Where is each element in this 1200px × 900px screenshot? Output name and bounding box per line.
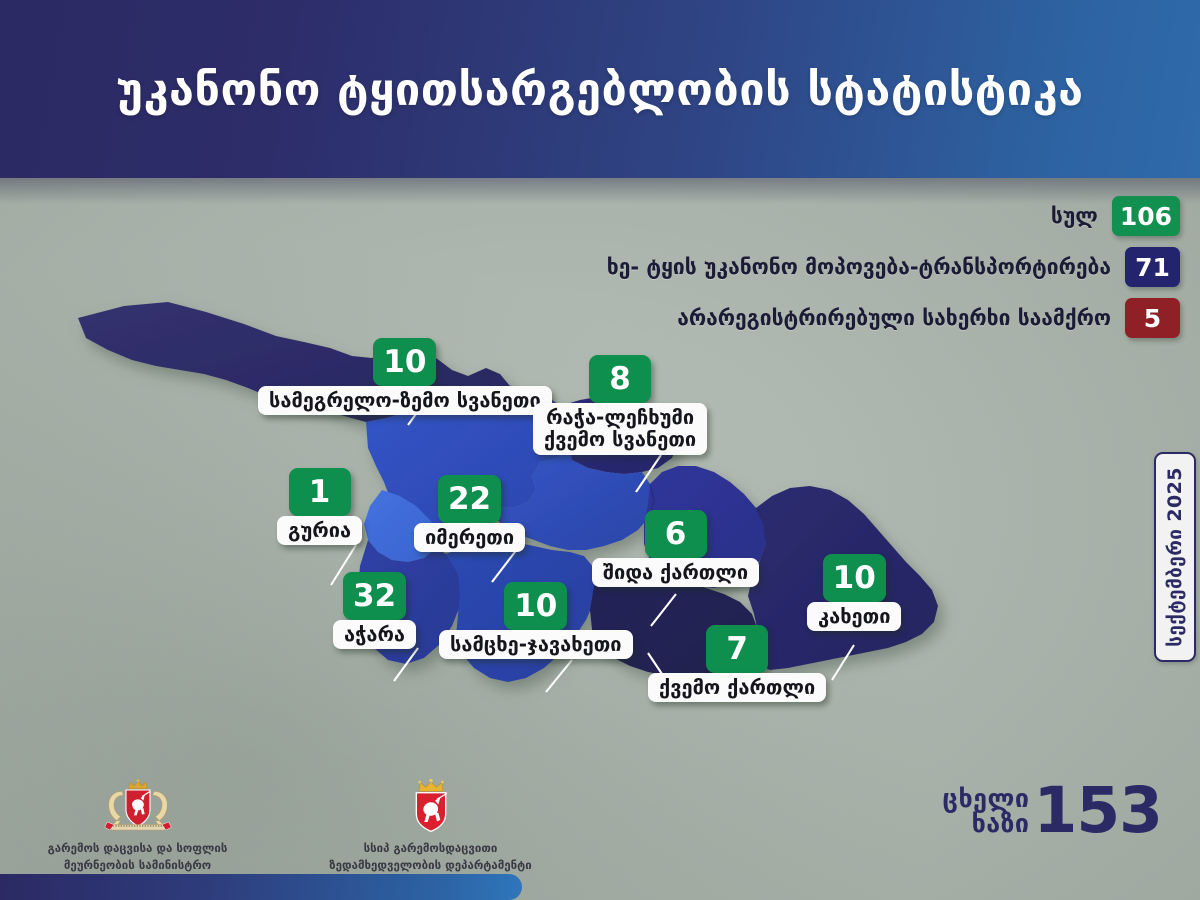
callout-label-shidakartli: შიდა ქართლი xyxy=(592,558,759,587)
callout-label-samegrelo: სამეგრელო-ზემო სვანეთი xyxy=(258,386,552,415)
callout-value-racha: 8 xyxy=(589,355,651,403)
leader-shidakartli xyxy=(651,594,676,626)
page-title: უკანონო ტყითსარგებლობის სტატისტიკა xyxy=(116,63,1083,116)
ministry-logo-block: გარემოს დაცვისა და სოფლის მეურნეობის სამ… xyxy=(30,778,245,873)
callout-value-kvemokartli: 7 xyxy=(706,625,768,673)
legend-row-total: სულ 106 xyxy=(1051,196,1180,236)
callout-label-kakheti: კახეთი xyxy=(807,602,901,631)
callout-kvemokartli[interactable]: 7 ქვემო ქართლი xyxy=(648,625,826,702)
callout-samegrelo[interactable]: 10 სამეგრელო-ზემო სვანეთი xyxy=(258,338,552,415)
leader-racha xyxy=(636,455,661,492)
hotline-badge: ცხელი ხაზი 153 xyxy=(942,784,1162,838)
callout-guria[interactable]: 1 გურია xyxy=(277,468,362,545)
leader-kakheti xyxy=(832,645,854,680)
hotline-number: 153 xyxy=(1033,784,1162,838)
callout-value-adjara: 32 xyxy=(343,572,406,620)
legend-row-unregistered: არარეგისტრირებული სახერხი საამქრო 5 xyxy=(677,298,1180,338)
callout-label-imereti: იმერეთი xyxy=(414,523,525,552)
legend-label-transport: ხე- ტყის უკანონო მოპოვება-ტრანსპორტირება xyxy=(607,255,1111,279)
ministry-emblem-icon xyxy=(98,778,178,834)
department-emblem-icon xyxy=(391,778,471,834)
bottom-accent-bar xyxy=(0,874,522,900)
leader-adjara xyxy=(394,648,418,681)
hotline-line1: ცხელი xyxy=(942,786,1029,811)
callout-adjara[interactable]: 32 აჭარა xyxy=(333,572,416,649)
footer-logos: გარემოს დაცვისა და სოფლის მეურნეობის სამ… xyxy=(30,778,538,873)
callout-label-racha: რაჭა-ლეჩხუმი ქვემო სვანეთი xyxy=(533,403,707,455)
date-tab: სექტემბერი 2025 xyxy=(1154,452,1196,662)
callout-label-guria: გურია xyxy=(277,516,362,545)
legend-badge-transport: 71 xyxy=(1125,247,1180,287)
header-banner: უკანონო ტყითსარგებლობის სტატისტიკა xyxy=(0,0,1200,178)
callout-imereti[interactable]: 22 იმერეთი xyxy=(414,475,525,552)
callout-kakheti[interactable]: 10 კახეთი xyxy=(807,554,901,631)
legend: სულ 106 ხე- ტყის უკანონო მოპოვება-ტრანსპ… xyxy=(607,196,1180,338)
callout-label-adjara: აჭარა xyxy=(333,620,416,649)
ministry-caption: გარემოს დაცვისა და სოფლის მეურნეობის სამ… xyxy=(48,840,228,873)
callout-value-samegrelo: 10 xyxy=(373,338,436,386)
hotline-line2: ხაზი xyxy=(972,811,1030,836)
legend-label-total: სულ xyxy=(1051,204,1098,228)
hotline-words: ცხელი ხაზი xyxy=(942,786,1029,836)
callout-value-shidakartli: 6 xyxy=(645,510,707,558)
leader-samtskhe xyxy=(546,660,572,692)
callout-value-imereti: 22 xyxy=(438,475,501,523)
legend-badge-unregistered: 5 xyxy=(1125,298,1180,338)
callout-value-guria: 1 xyxy=(289,468,351,516)
callout-value-samtskhe: 10 xyxy=(504,582,567,630)
leader-imereti xyxy=(492,548,518,582)
department-logo-block: სსიპ გარემოსდაცვითი ზედამხედველობის დეპა… xyxy=(323,778,538,873)
callout-racha[interactable]: 8 რაჭა-ლეჩხუმი ქვემო სვანეთი xyxy=(533,355,707,455)
department-caption: სსიპ გარემოსდაცვითი ზედამხედველობის დეპა… xyxy=(329,840,531,873)
callout-shidakartli[interactable]: 6 შიდა ქართლი xyxy=(592,510,759,587)
legend-label-unregistered: არარეგისტრირებული სახერხი საამქრო xyxy=(677,306,1111,330)
legend-badge-total: 106 xyxy=(1112,196,1180,236)
legend-row-transport: ხე- ტყის უკანონო მოპოვება-ტრანსპორტირება… xyxy=(607,247,1180,287)
callout-label-samtskhe: სამცხე-ჯავახეთი xyxy=(439,630,633,659)
infographic-root: უკანონო ტყითსარგებლობის სტატისტიკა სულ 1… xyxy=(0,0,1200,900)
callout-label-kvemokartli: ქვემო ქართლი xyxy=(648,673,826,702)
callout-samtskhe[interactable]: 10 სამცხე-ჯავახეთი xyxy=(439,582,633,659)
date-tab-label: სექტემბერი 2025 xyxy=(1164,467,1186,647)
callout-value-kakheti: 10 xyxy=(823,554,886,602)
